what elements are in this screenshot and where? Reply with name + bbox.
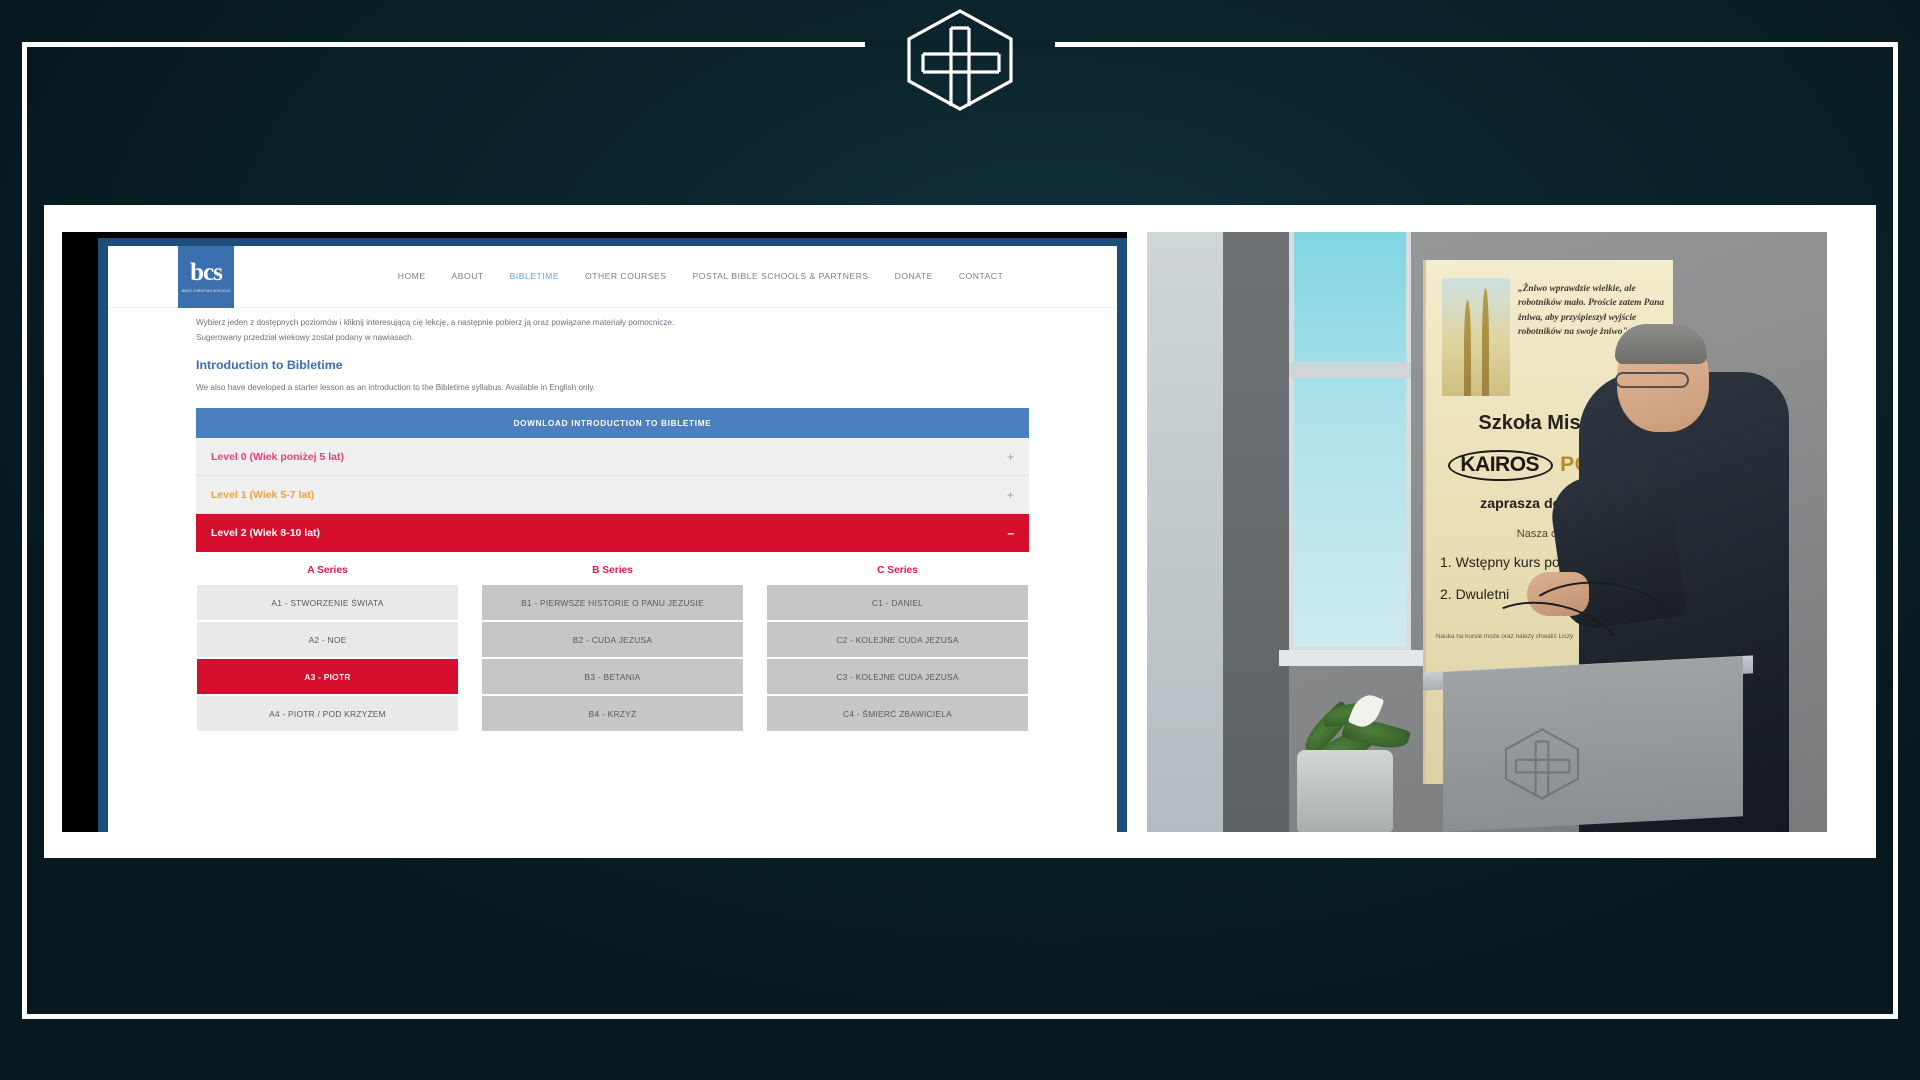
accordion-minus-icon-level-2: –	[1007, 526, 1014, 540]
kairos-wordmark: KAIROS	[1448, 450, 1553, 481]
wall-left-panel	[1147, 232, 1223, 832]
presentation-slide: bcs BIBLE CHRISTIAN SCHOOLS HOME ABOUT B…	[0, 0, 1920, 1080]
series-column-a: A Series A1 - STWORZENIE ŚWIATA A2 - NOE…	[197, 565, 458, 733]
nav-item-about[interactable]: ABOUT	[452, 271, 484, 281]
download-introduction-button[interactable]: DOWNLOAD INTRODUCTION TO BIBLETIME	[196, 408, 1029, 438]
section-heading: Introduction to Bibletime	[196, 358, 1029, 372]
lesson-item[interactable]: C2 - KOLEJNE CUDA JEZUSA	[767, 622, 1028, 659]
site-navigation: HOME ABOUT BIBLETIME OTHER COURSES POSTA…	[234, 246, 1117, 307]
lesson-item[interactable]: B4 - KRZYŻ	[482, 696, 743, 733]
accordion-label-level-0: Level 0 (Wiek poniżej 5 lat)	[211, 451, 344, 463]
site-logo[interactable]: bcs BIBLE CHRISTIAN SCHOOLS	[178, 246, 234, 308]
lesson-item-selected[interactable]: A3 - PIOTR	[197, 659, 458, 696]
website-page: bcs BIBLE CHRISTIAN SCHOOLS HOME ABOUT B…	[108, 246, 1117, 832]
accordion-row-level-0[interactable]: Level 0 (Wiek poniżej 5 lat) +	[196, 438, 1029, 476]
nav-item-donate[interactable]: DONATE	[895, 271, 933, 281]
lesson-item[interactable]: B3 - BETANIA	[482, 659, 743, 696]
browser-screenshot: bcs BIBLE CHRISTIAN SCHOOLS HOME ABOUT B…	[62, 232, 1127, 832]
nav-item-home[interactable]: HOME	[398, 271, 426, 281]
section-paragraph: We also have developed a starter lesson …	[196, 380, 1029, 395]
series-column-b: B Series B1 - PIERWSZE HISTORIE O PANU J…	[482, 565, 743, 733]
nav-item-contact[interactable]: CONTACT	[959, 271, 1003, 281]
accordion-row-level-2[interactable]: Level 2 (Wiek 8-10 lat) –	[196, 514, 1029, 552]
accordion-label-level-1: Level 1 (Wiek 5-7 lat)	[211, 489, 314, 501]
nav-item-other-courses[interactable]: OTHER COURSES	[585, 271, 666, 281]
lesson-item[interactable]: A4 - PIOTR / POD KRZYŻEM	[197, 696, 458, 733]
intro-paragraph-line1: Wybierz jeden z dostępnych poziomów i kl…	[196, 315, 1029, 330]
series-header-b: B Series	[482, 565, 743, 585]
site-header: bcs BIBLE CHRISTIAN SCHOOLS HOME ABOUT B…	[108, 246, 1117, 308]
lesson-item[interactable]: A2 - NOE	[197, 622, 458, 659]
page-content: Wybierz jeden z dostępnych poziomów i kl…	[108, 308, 1117, 734]
podium-hexagon-cross-logo-icon	[1499, 720, 1585, 808]
banner-offer-item-1: 1. Wstępny kurs pod	[1440, 554, 1568, 570]
nav-item-postal-bible-schools[interactable]: POSTAL BIBLE SCHOOLS & PARTNERS	[693, 271, 869, 281]
levels-accordion: Level 0 (Wiek poniżej 5 lat) + Level 1 (…	[196, 438, 1029, 552]
window	[1289, 232, 1411, 652]
lesson-item[interactable]: C3 - KOLEJNE CUDA JEZUSA	[767, 659, 1028, 696]
wall-dark-strip	[1223, 232, 1289, 832]
lesson-item[interactable]: C1 - DANIEL	[767, 585, 1028, 622]
intro-paragraph-line2: Sugerowany przedział wiekowy został poda…	[196, 330, 1029, 345]
site-logo-mark: bcs	[190, 260, 222, 285]
accordion-row-level-1[interactable]: Level 1 (Wiek 5-7 lat) +	[196, 476, 1029, 514]
podium	[1443, 656, 1743, 832]
nav-item-bibletime[interactable]: BIBLETIME	[510, 271, 559, 281]
series-header-c: C Series	[767, 565, 1028, 585]
lesson-item[interactable]: B1 - PIERWSZE HISTORIE O PANU JEZUSIE	[482, 585, 743, 622]
lesson-item[interactable]: A1 - STWORZENIE ŚWIATA	[197, 585, 458, 622]
series-column-c: C Series C1 - DANIEL C2 - KOLEJNE CUDA J…	[767, 565, 1028, 733]
accordion-plus-icon-level-1: +	[1007, 488, 1014, 502]
media-panel: bcs BIBLE CHRISTIAN SCHOOLS HOME ABOUT B…	[44, 205, 1876, 858]
lesson-item[interactable]: B2 - CUDA JEZUSA	[482, 622, 743, 659]
accordion-label-level-2: Level 2 (Wiek 8-10 lat)	[211, 527, 320, 539]
speaker-glasses	[1615, 372, 1689, 388]
banner-offer-item-2: 2. Dwuletni	[1440, 586, 1509, 602]
window-mullion	[1289, 362, 1411, 378]
hexagon-cross-logo-icon	[899, 6, 1021, 114]
speaker-hair	[1615, 324, 1707, 364]
series-header-a: A Series	[197, 565, 458, 585]
window-sill	[1279, 650, 1424, 666]
conference-photo: „Żniwo wprawdzie wielkie, ale robotników…	[1147, 232, 1827, 832]
wheat-photo	[1442, 278, 1510, 396]
accordion-plus-icon-level-0: +	[1007, 450, 1014, 464]
lesson-item[interactable]: C4 - ŚMIERĆ ZBAWICIELA	[767, 696, 1028, 733]
series-grid: A Series A1 - STWORZENIE ŚWIATA A2 - NOE…	[196, 552, 1029, 733]
site-logo-subtitle: BIBLE CHRISTIAN SCHOOLS	[182, 289, 230, 293]
plant-pot	[1297, 750, 1393, 832]
